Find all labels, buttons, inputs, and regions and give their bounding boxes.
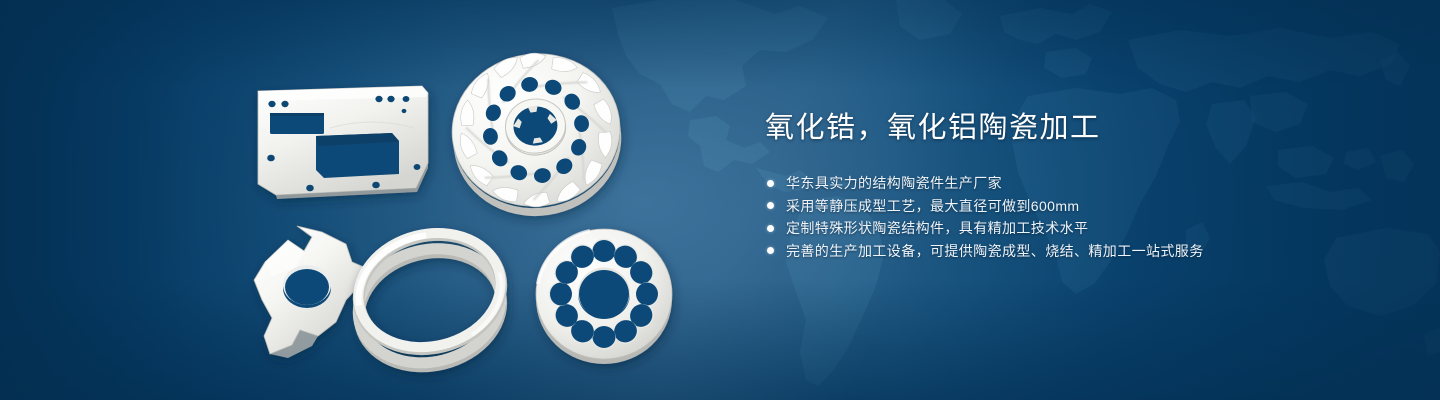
list-item-label: 完善的生产加工设备，可提供陶瓷成型、烧结、精加工一站式服务 (786, 240, 1204, 262)
ceramic-ring (346, 218, 514, 381)
list-item: 完善的生产加工设备，可提供陶瓷成型、烧结、精加工一站式服务 (767, 240, 1385, 262)
bullet-dot-icon (767, 247, 774, 254)
bullet-dot-icon (767, 202, 774, 209)
list-item: 采用等静压成型工艺，最大直径可做到600mm (767, 195, 1385, 217)
list-item-label: 华东具实力的结构陶瓷件生产厂家 (786, 172, 1002, 194)
ceramic-mounting-plate (258, 86, 428, 199)
list-item-label: 采用等静压成型工艺，最大直径可做到600mm (786, 195, 1079, 217)
ceramic-products-banner: 氧化锆，氧化铝陶瓷加工 华东具实力的结构陶瓷件生产厂家 采用等静压成型工艺，最大… (0, 0, 1440, 400)
bullet-dot-icon (767, 225, 774, 232)
ceramic-perforated-disc (536, 229, 672, 364)
ceramic-impeller-rotor (442, 41, 631, 227)
feature-list: 华东具实力的结构陶瓷件生产厂家 采用等静压成型工艺，最大直径可做到600mm 定… (767, 172, 1385, 262)
banner-copy: 氧化锆，氧化铝陶瓷加工 华东具实力的结构陶瓷件生产厂家 采用等静压成型工艺，最大… (765, 108, 1385, 262)
bullet-dot-icon (767, 180, 774, 187)
ceramic-products-group (0, 0, 740, 400)
list-item: 华东具实力的结构陶瓷件生产厂家 (767, 172, 1385, 194)
list-item: 定制特殊形状陶瓷结构件，具有精加工技术水平 (767, 217, 1385, 239)
list-item-label: 定制特殊形状陶瓷结构件，具有精加工技术水平 (786, 217, 1088, 239)
ceramic-cross-plate (254, 226, 366, 358)
page-title: 氧化锆，氧化铝陶瓷加工 (765, 108, 1385, 148)
